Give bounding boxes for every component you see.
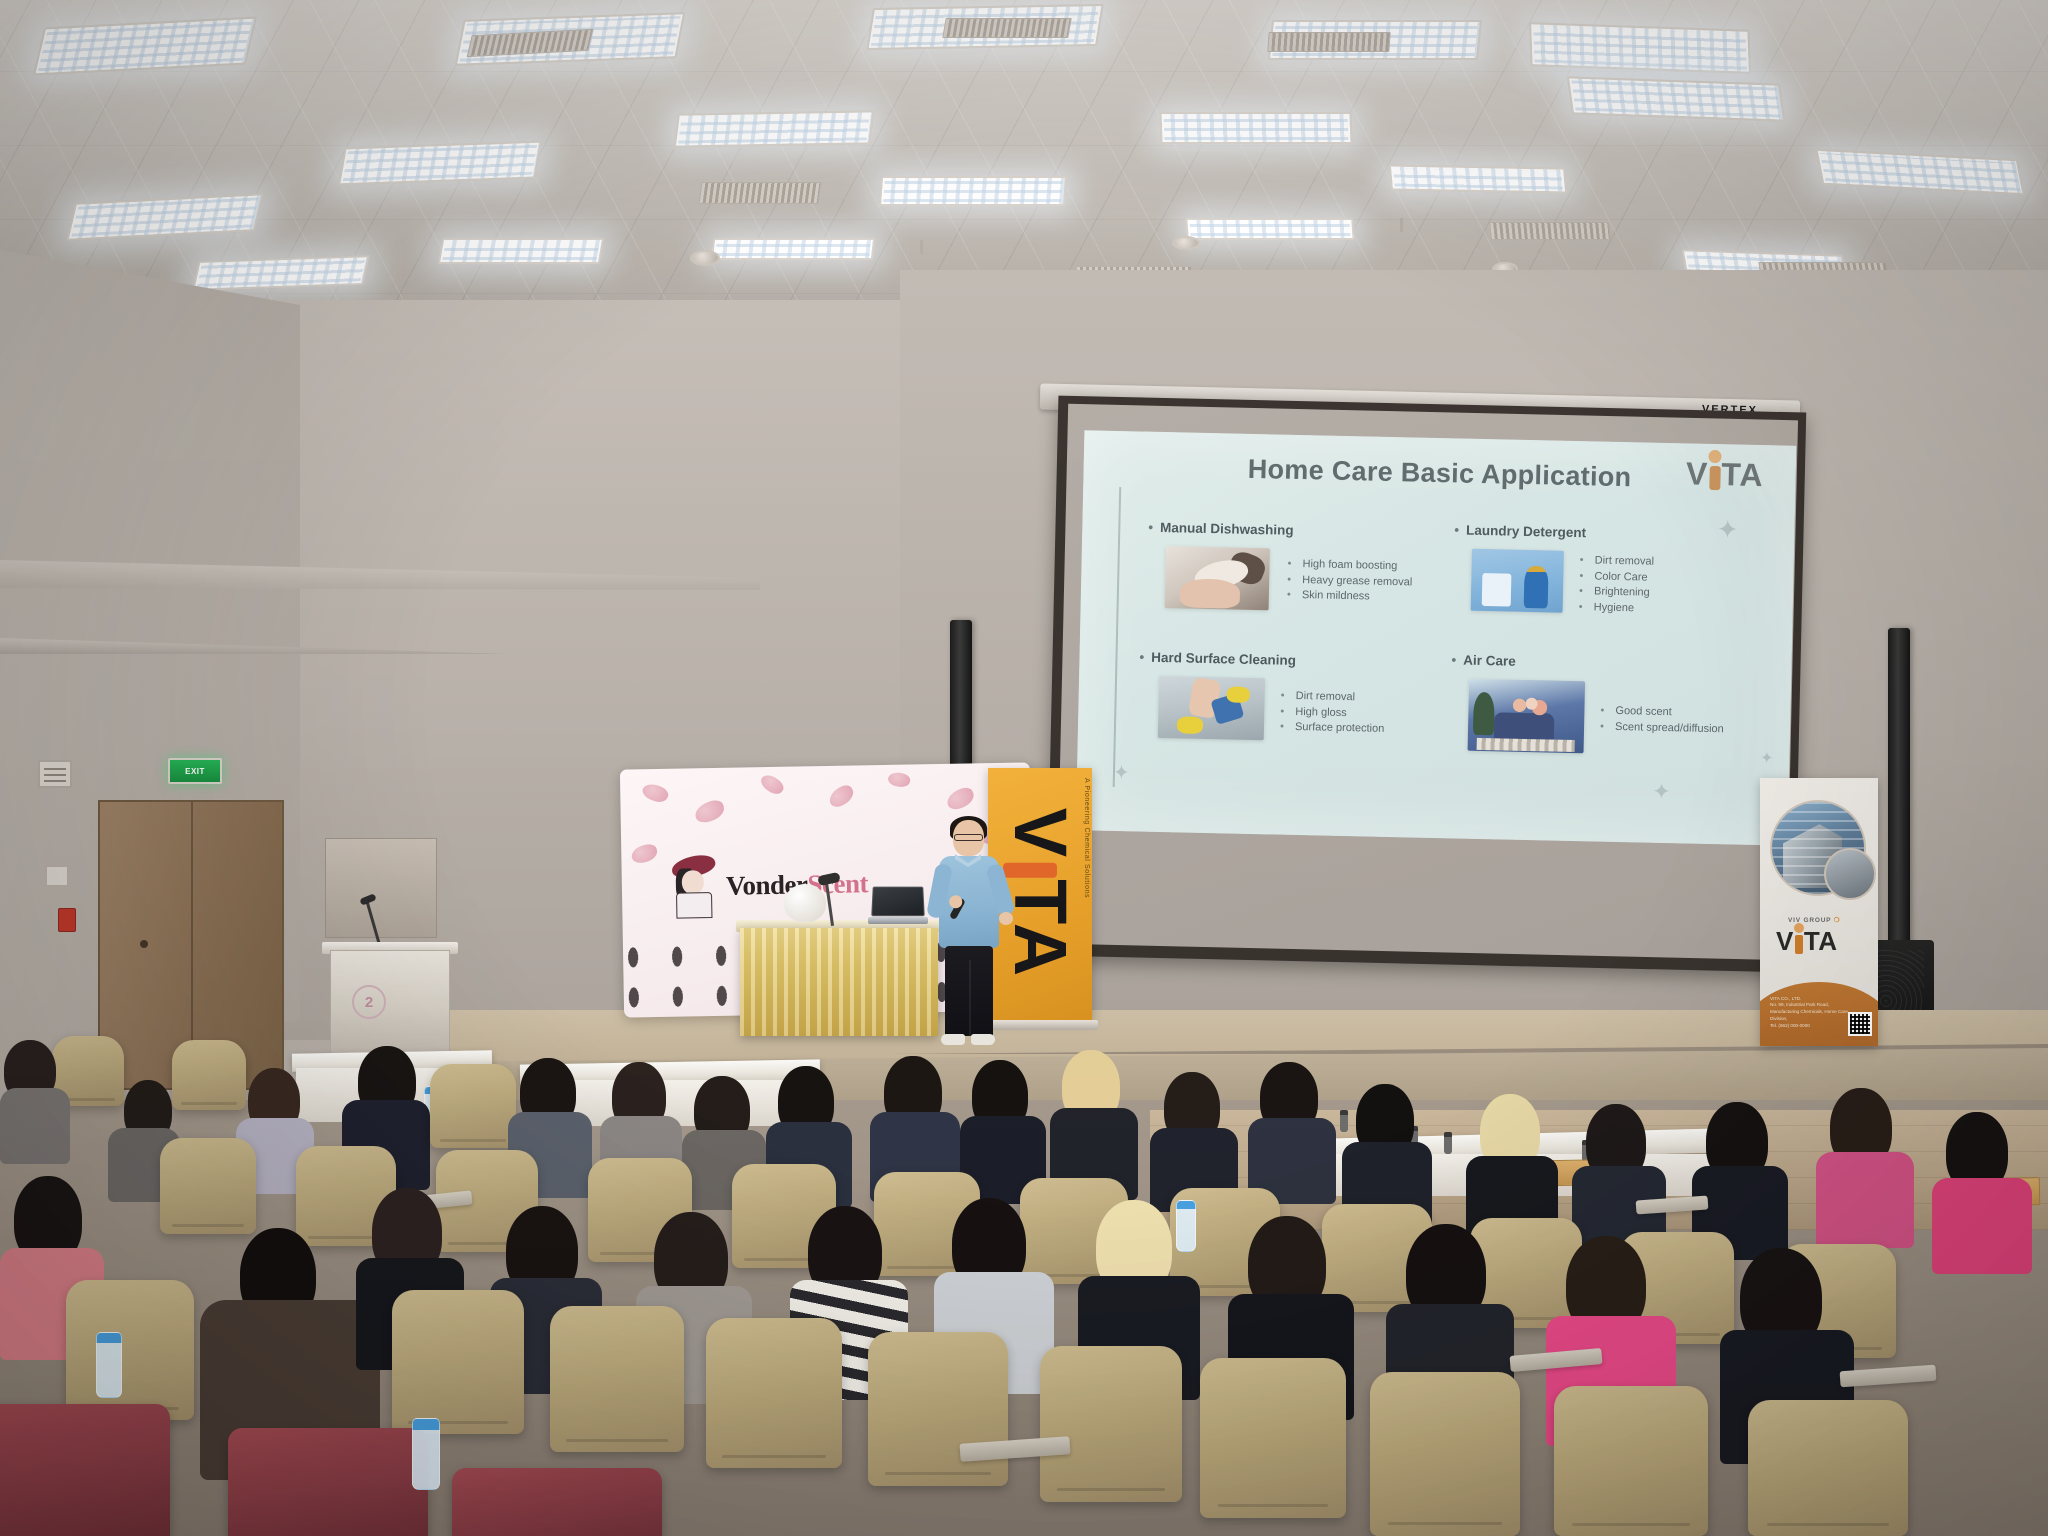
vita-logo-ta: TA xyxy=(1721,458,1764,491)
water-bottle[interactable] xyxy=(412,1418,440,1490)
vita-logo-dot-icon xyxy=(1709,450,1722,463)
address-line: Tel. (662) 000-0000 xyxy=(1770,1023,1848,1030)
rollup-tagline: A Pioneering Chemical Solutions xyxy=(1083,778,1090,898)
vita-logo: V TA xyxy=(1686,457,1764,491)
body-shape xyxy=(676,892,712,919)
viv-group-text: VIV GROUP xyxy=(1788,917,1831,924)
ceiling-light-fixture xyxy=(674,110,875,147)
section-bullet-list: Dirt removal Color Care Brightening Hygi… xyxy=(1579,553,1655,617)
vita-logo-v: V xyxy=(1686,457,1709,489)
list-item: Surface protection xyxy=(1280,720,1385,738)
audience-body xyxy=(1932,1178,2032,1274)
section-heading-text: Hard Surface Cleaning xyxy=(1151,650,1296,668)
presenter-shoe xyxy=(971,1034,995,1045)
list-item: Dirt removal xyxy=(1580,553,1655,570)
audience-body xyxy=(0,1088,70,1164)
petal-icon xyxy=(758,771,786,798)
section-bullet-list: High foam boosting Heavy grease removal … xyxy=(1287,557,1413,607)
address-line: Manufacturing Chemicals, Home Care Divis… xyxy=(1770,1009,1848,1023)
qr-code xyxy=(1848,1012,1872,1036)
ceiling-speaker-dome xyxy=(1172,236,1200,250)
door-handle-icon[interactable] xyxy=(140,940,148,948)
presenter-right-hand xyxy=(999,912,1013,925)
laundry-detergent-photo xyxy=(1471,549,1564,613)
vita-corporate-rollup-banner: VIV GROUP ❍ V TA VITA CO., LTD. No. 99, … xyxy=(1760,778,1878,1046)
petal-icon xyxy=(944,785,977,813)
auditorium-chair-front[interactable] xyxy=(0,1404,170,1536)
presentation-slide: Home Care Basic Application V TA ✦ ✦ ✦ ✦… xyxy=(1076,430,1797,845)
list-item: Skin mildness xyxy=(1287,588,1412,606)
ceiling-light-fixture xyxy=(1529,22,1751,74)
plant-shape xyxy=(1473,692,1495,736)
section-bullet-list: Good scent Scent spread/diffusion xyxy=(1600,704,1724,738)
detergent-box-shape xyxy=(1482,573,1512,607)
presenter xyxy=(925,820,1011,1048)
bullet-icon: • xyxy=(1451,652,1456,667)
rollup-v: V xyxy=(1003,808,1077,861)
auditorium-chair[interactable] xyxy=(392,1290,524,1434)
rollup-i-icon xyxy=(1003,861,1057,879)
ceiling-light-fixture xyxy=(1185,218,1355,240)
hard-surface-cleaning-photo xyxy=(1158,676,1265,740)
bullet-icon: • xyxy=(1454,522,1459,537)
vita-vertical-wordmark: V TA xyxy=(1003,808,1077,981)
fire-alarm-panel xyxy=(38,760,72,788)
auditorium-chair[interactable] xyxy=(1040,1346,1182,1502)
logo-dot-icon xyxy=(1794,923,1804,933)
slide-vertical-rule xyxy=(1113,487,1122,787)
laptop-screen xyxy=(871,887,925,917)
petal-icon xyxy=(887,770,912,789)
ceiling-light-fixture xyxy=(711,238,875,260)
speaker-stem xyxy=(920,240,923,254)
bullet-icon: • xyxy=(1148,520,1153,535)
air-care-photo xyxy=(1468,679,1586,754)
round-object-on-table xyxy=(784,884,826,922)
list-item: Color Care xyxy=(1579,569,1654,586)
sparkle-icon: ✦ xyxy=(1652,781,1671,803)
auditorium-chair[interactable] xyxy=(430,1064,516,1148)
list-item: Scent spread/diffusion xyxy=(1600,719,1724,737)
address-line: VITA CO., LTD. xyxy=(1770,996,1848,1003)
slide-section-hard-surface-cleaning: •Hard Surface Cleaning Dirt removal High… xyxy=(1139,650,1449,672)
glove-shape xyxy=(1177,716,1203,734)
auditorium-chair-front[interactable] xyxy=(228,1428,428,1536)
exit-sign: EXIT xyxy=(168,758,222,784)
rollup-right-vita-logo: V TA xyxy=(1776,928,1838,954)
ceiling-light-fixture xyxy=(338,141,542,186)
detergent-bottle-shape xyxy=(1524,566,1549,609)
presenter-table-skirt xyxy=(740,928,938,1036)
ceiling-light-fixture xyxy=(1159,112,1352,144)
section-heading: •Manual Dishwashing xyxy=(1148,520,1448,542)
lectern xyxy=(330,950,450,1054)
auditorium-chair-front[interactable] xyxy=(452,1468,662,1536)
girl-with-hat-icon xyxy=(669,854,718,919)
section-heading: •Air Care xyxy=(1451,652,1781,674)
banner-address: VITA CO., LTD. No. 99, Industrial Park R… xyxy=(1770,996,1848,1030)
presenter-trousers xyxy=(945,946,993,1036)
petal-icon xyxy=(630,842,659,864)
slide-section-air-care: •Air Care Good scent Scent spread/diffus… xyxy=(1451,652,1781,674)
ceiling-light-fixture xyxy=(438,238,605,264)
sparkle-icon: ✦ xyxy=(1113,763,1130,783)
vita-logo-stem-icon xyxy=(1709,466,1721,490)
ceiling-light-fixture xyxy=(879,176,1067,206)
lectern-emblem: 2 xyxy=(352,985,386,1019)
laptop-on-table xyxy=(868,886,928,924)
photo-scene: EXIT VERTEX Home Care Basic Application … xyxy=(0,0,2048,1536)
sample-bottle xyxy=(1340,1110,1348,1132)
vita-logo-i-icon xyxy=(1708,466,1722,490)
rollup-ta: TA xyxy=(1003,879,1077,980)
section-bullet-list: Dirt removal High gloss Surface protecti… xyxy=(1280,689,1385,738)
fire-alarm-pull[interactable] xyxy=(58,908,76,932)
address-line: No. 99, Industrial Park Road, xyxy=(1770,1002,1848,1009)
group-accent-icon: ❍ xyxy=(1831,917,1840,924)
audience-body xyxy=(1816,1152,1914,1248)
building-photo-small xyxy=(1824,848,1876,900)
glasses-icon xyxy=(954,834,983,841)
logo-ta: TA xyxy=(1804,928,1838,954)
auditorium-chair[interactable] xyxy=(160,1138,256,1234)
flower-shape xyxy=(1508,695,1548,715)
air-vent-grille xyxy=(1489,222,1611,240)
air-vent-grille xyxy=(942,18,1072,38)
water-bottle[interactable] xyxy=(1176,1200,1196,1252)
auditorium-chair[interactable] xyxy=(706,1318,842,1468)
rug-shape xyxy=(1477,738,1575,752)
logo-i-icon xyxy=(1794,935,1804,954)
ceiling-light-fixture xyxy=(1567,76,1786,121)
air-vent-grille xyxy=(1267,32,1390,52)
water-bottle[interactable] xyxy=(96,1332,122,1398)
auditorium-chair[interactable] xyxy=(550,1306,684,1452)
section-heading-text: Air Care xyxy=(1463,653,1516,669)
petal-icon xyxy=(640,780,670,805)
petal-icon xyxy=(826,782,857,810)
light-switch-plate[interactable] xyxy=(46,866,68,886)
sparkle-icon: ✦ xyxy=(1760,751,1774,767)
logo-v: V xyxy=(1776,928,1794,954)
ceiling-light-fixture xyxy=(1389,164,1568,193)
air-vent-grille xyxy=(698,182,821,204)
logo-stem-icon xyxy=(1795,935,1803,954)
auditorium-chair[interactable] xyxy=(1554,1386,1708,1536)
petal-icon xyxy=(692,798,727,826)
hand-shape xyxy=(1179,579,1240,609)
auditorium-chair[interactable] xyxy=(1370,1372,1520,1536)
wall-cabinet xyxy=(325,838,437,938)
auditorium-chair[interactable] xyxy=(66,1280,194,1420)
section-heading-text: Manual Dishwashing xyxy=(1160,520,1294,538)
section-heading-text: Laundry Detergent xyxy=(1466,523,1586,541)
ceiling-light-fixture xyxy=(192,255,370,291)
speaker-column-right xyxy=(1888,628,1910,988)
section-heading: •Hard Surface Cleaning xyxy=(1139,650,1449,672)
auditorium-chair[interactable] xyxy=(868,1332,1008,1486)
list-item: Hygiene xyxy=(1579,600,1654,617)
laptop-base xyxy=(868,917,928,924)
slide-section-manual-dishwashing: •Manual Dishwashing High foam boosting H… xyxy=(1148,520,1448,542)
speaker-stem xyxy=(1400,218,1403,232)
face-shape xyxy=(682,870,704,894)
ceiling-speaker-dome xyxy=(690,250,720,266)
glove-shape xyxy=(1226,686,1250,703)
auditorium-chair[interactable] xyxy=(1200,1358,1346,1518)
list-item: Brightening xyxy=(1579,584,1654,601)
dishwashing-photo xyxy=(1165,546,1270,610)
sofa-shape xyxy=(1493,712,1554,741)
auditorium-chair[interactable] xyxy=(1748,1400,1908,1536)
bullet-icon: • xyxy=(1139,650,1144,665)
presenter-shoe xyxy=(941,1034,965,1045)
rollup-i-bar-icon xyxy=(1003,863,1057,878)
sample-bottle xyxy=(1444,1132,1452,1154)
auditorium-chair[interactable] xyxy=(172,1040,246,1110)
